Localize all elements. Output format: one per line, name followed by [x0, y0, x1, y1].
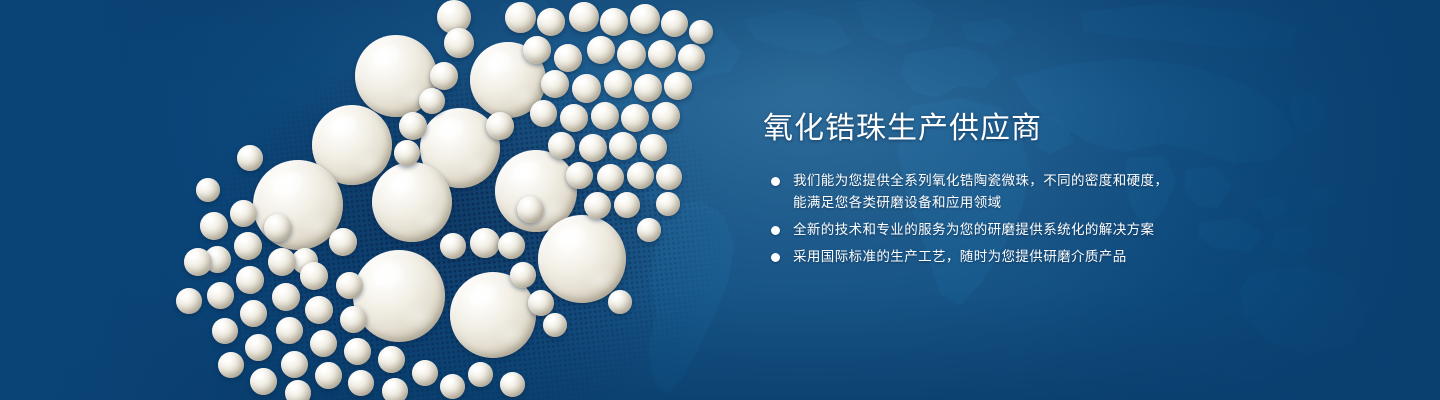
hero-banner: 氧化锆珠生产供应商 我们能为您提供全系列氧化锆陶瓷微珠，不同的密度和硬度， 能满…: [0, 0, 1440, 400]
feature-list: 我们能为您提供全系列氧化锆陶瓷微珠，不同的密度和硬度， 能满足您各类研磨设备和应…: [763, 170, 1323, 268]
list-item: 我们能为您提供全系列氧化锆陶瓷微珠，不同的密度和硬度， 能满足您各类研磨设备和应…: [763, 170, 1323, 214]
page-title: 氧化锆珠生产供应商: [763, 110, 1323, 148]
list-item-line: 采用国际标准的生产工艺，随时为您提供研磨介质产品: [793, 246, 1323, 268]
banner-copy: 氧化锆珠生产供应商 我们能为您提供全系列氧化锆陶瓷微珠，不同的密度和硬度， 能满…: [763, 110, 1323, 268]
bullet-dot-icon: [771, 253, 780, 262]
bullet-dot-icon: [771, 226, 780, 235]
list-item-line: 我们能为您提供全系列氧化锆陶瓷微珠，不同的密度和硬度，: [793, 170, 1323, 192]
list-item: 采用国际标准的生产工艺，随时为您提供研磨介质产品: [763, 246, 1323, 268]
bullet-dot-icon: [771, 177, 780, 186]
list-item: 全新的技术和专业的服务为您的研磨提供系统化的解决方案: [763, 219, 1323, 241]
list-item-line: 全新的技术和专业的服务为您的研磨提供系统化的解决方案: [793, 219, 1323, 241]
list-item-line: 能满足您各类研磨设备和应用领域: [793, 192, 1323, 214]
